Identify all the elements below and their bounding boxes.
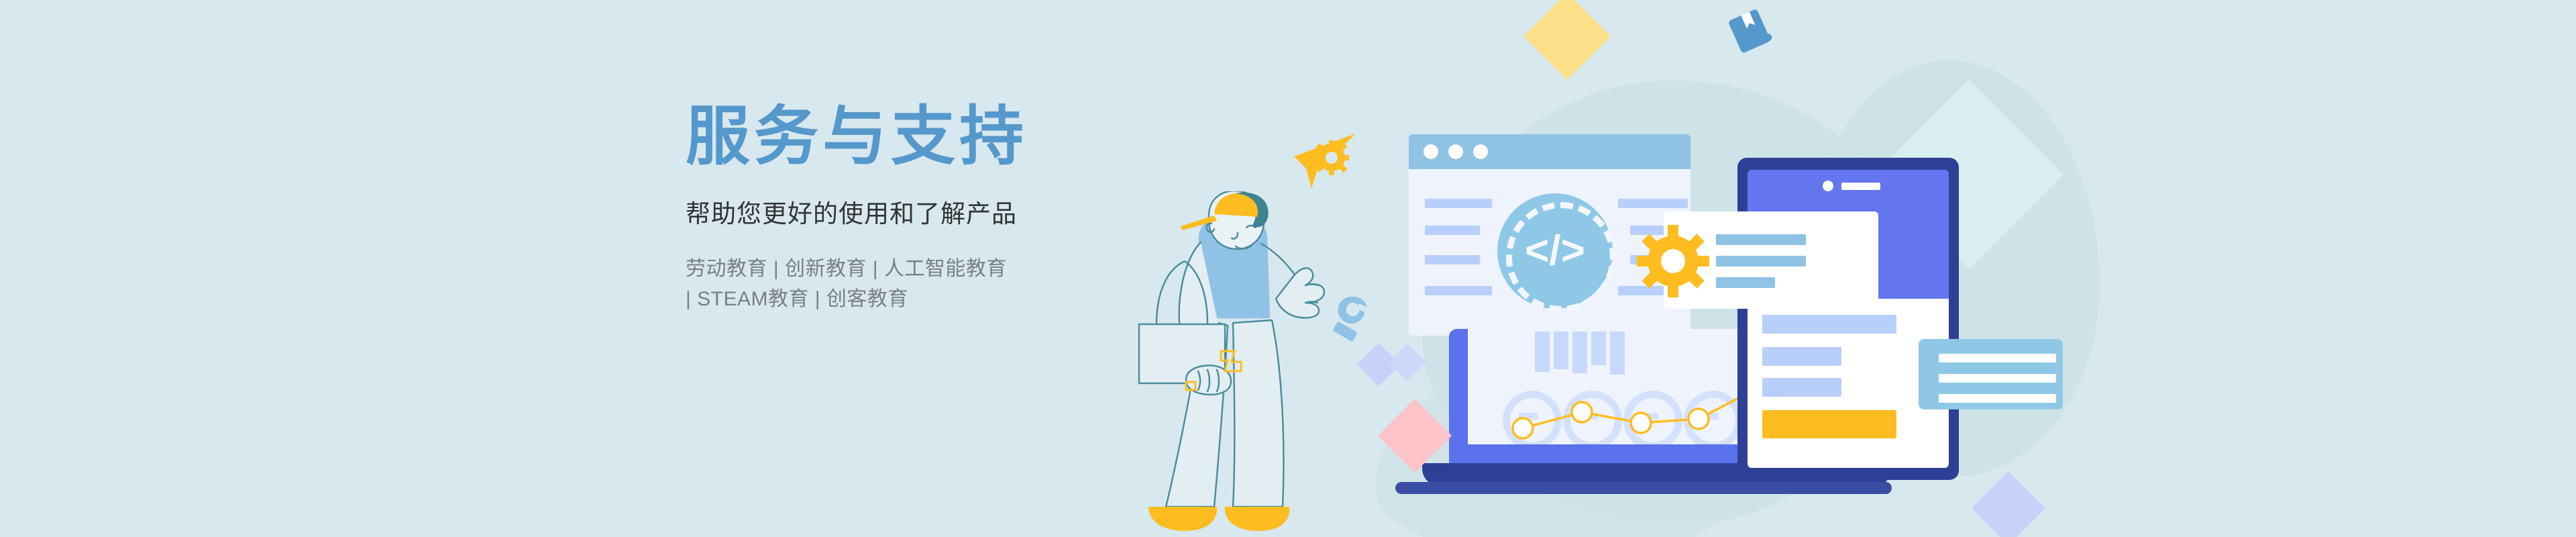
window-dot-maximize[interactable]: [1473, 144, 1488, 159]
primary-action-button[interactable]: [1762, 410, 1896, 438]
chart-point: [1688, 409, 1709, 429]
illustration: </>: [0, 0, 2576, 537]
content-line: [1939, 394, 2056, 403]
code-badge-icon: </>: [1497, 193, 1613, 309]
chart-point: [1572, 402, 1592, 422]
chart-point: [1631, 413, 1651, 433]
content-line: [1762, 378, 1841, 397]
content-line: [1425, 286, 1492, 295]
yellow-diamond-shape: [1523, 0, 1611, 80]
laptop-foot: [1395, 482, 1892, 494]
content-line: [1716, 256, 1806, 266]
wrench-icon: [1332, 295, 1373, 341]
content-line: [1762, 315, 1896, 334]
content-line: [1425, 226, 1480, 235]
content-line: [1716, 234, 1806, 245]
service-support-banner: 服务与支持 帮助您更好的使用和了解产品 劳动教育 | 创新教育 | 人工智能教育…: [0, 0, 2576, 537]
tablet-speaker-bar: [1841, 183, 1880, 190]
content-line: [1716, 277, 1775, 288]
message-card: [1919, 339, 2063, 409]
content-line: [1618, 199, 1688, 208]
content-line: [1939, 354, 2056, 362]
pink-diamond-shape: [1378, 399, 1452, 473]
content-line: [1939, 374, 2056, 383]
content-line: [1425, 199, 1492, 208]
tablet-camera-dot: [1823, 181, 1833, 191]
gear-icon: [1637, 225, 1709, 297]
chart-point: [1513, 418, 1533, 438]
periwinkle-diamond-bottom: [1972, 471, 2045, 537]
tablet-device: [1737, 158, 1959, 480]
settings-card: [1664, 211, 1878, 309]
periwinkle-diamond-shape: [1389, 344, 1427, 382]
paper-plane-icon: [1291, 131, 1365, 195]
browser-title-bar: [1409, 134, 1690, 169]
window-dot-minimize[interactable]: [1448, 144, 1463, 159]
content-line: [1425, 255, 1480, 264]
book-icon: [1724, 7, 1776, 59]
code-glyph-label: </>: [1525, 230, 1585, 272]
content-line: [1762, 347, 1841, 366]
person-character: [1134, 191, 1335, 537]
window-dot-close[interactable]: [1424, 144, 1438, 159]
